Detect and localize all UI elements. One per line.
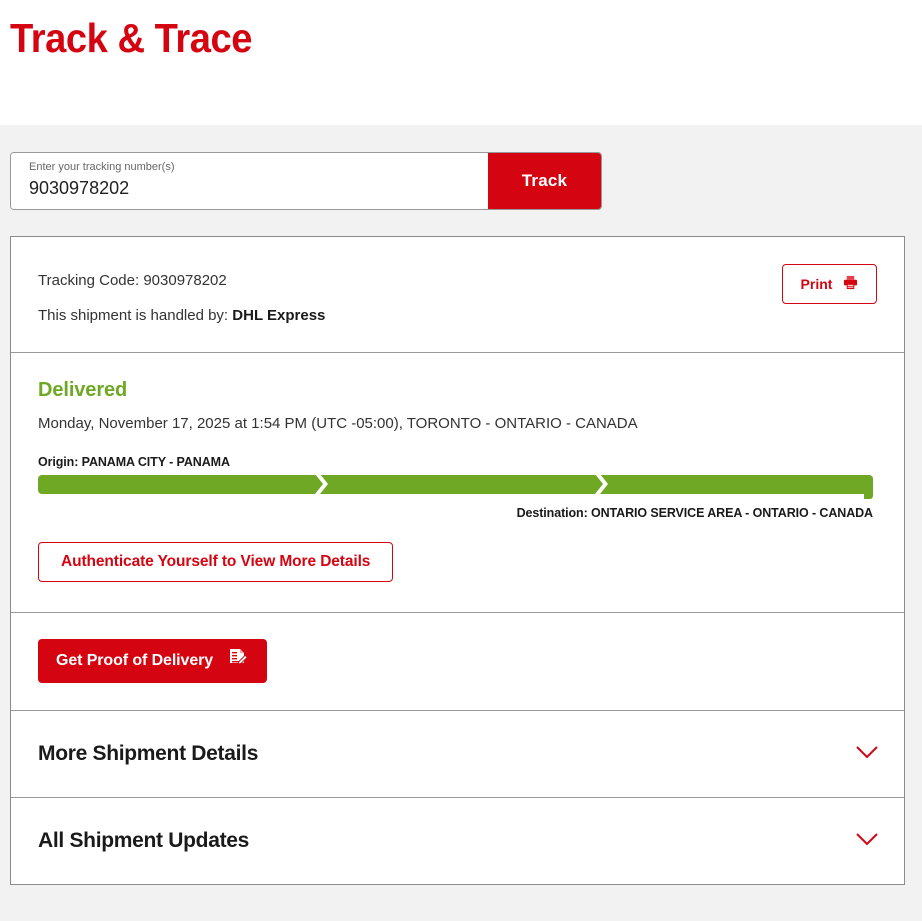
get-proof-of-delivery-button[interactable]: Get Proof of Delivery xyxy=(38,639,267,683)
proof-of-delivery-section: Get Proof of Delivery xyxy=(11,613,904,710)
chevron-down-icon[interactable] xyxy=(855,745,879,764)
tracking-result-card: Tracking Code: 9030978202 This shipment … xyxy=(10,236,905,885)
progress-chevron-2 xyxy=(595,475,608,494)
progress-chevron-1 xyxy=(315,475,328,494)
track-button[interactable]: Track xyxy=(488,153,601,209)
handled-by-carrier: DHL Express xyxy=(232,307,325,324)
document-signature-icon xyxy=(228,648,248,674)
status-detail: Monday, November 17, 2025 at 1:54 PM (UT… xyxy=(38,413,877,434)
accordion-title: All Shipment Updates xyxy=(38,829,249,853)
progress-end-cap xyxy=(864,475,873,499)
pod-button-label: Get Proof of Delivery xyxy=(56,652,213,670)
shipment-progress-bar xyxy=(38,475,873,499)
status-badge: Delivered xyxy=(38,377,877,403)
tracking-search-box[interactable]: Enter your tracking number(s) 9030978202… xyxy=(10,152,602,210)
shipment-summary-text: Tracking Code: 9030978202 This shipment … xyxy=(38,264,325,327)
page-header: Track & Trace xyxy=(0,0,922,125)
progress-track xyxy=(38,475,873,494)
search-row: Enter your tracking number(s) 9030978202… xyxy=(10,125,912,210)
tracking-number-input[interactable]: Enter your tracking number(s) 9030978202 xyxy=(11,153,488,209)
accordion-all-shipment-updates[interactable]: All Shipment Updates xyxy=(11,798,904,884)
tracking-number-label: Enter your tracking number(s) xyxy=(29,160,488,174)
authenticate-button[interactable]: Authenticate Yourself to View More Detai… xyxy=(38,542,393,582)
shipment-status-section: Delivered Monday, November 17, 2025 at 1… xyxy=(11,353,904,612)
content-area: Enter your tracking number(s) 9030978202… xyxy=(0,125,922,921)
handled-by-prefix: This shipment is handled by: xyxy=(38,307,228,324)
print-button-label: Print xyxy=(801,276,833,292)
tracking-number-value: 9030978202 xyxy=(29,175,488,201)
handled-by-line: This shipment is handled by: DHL Express xyxy=(38,305,325,327)
chevron-down-icon[interactable] xyxy=(855,832,879,851)
printer-icon xyxy=(843,275,858,293)
accordion-title: More Shipment Details xyxy=(38,742,258,766)
shipment-summary-section: Tracking Code: 9030978202 This shipment … xyxy=(11,237,904,352)
origin-label: Origin: PANAMA CITY - PANAMA xyxy=(38,455,877,469)
destination-label: Destination: ONTARIO SERVICE AREA - ONTA… xyxy=(38,506,873,520)
page-title: Track & Trace xyxy=(10,14,858,62)
tracking-code-line: Tracking Code: 9030978202 xyxy=(38,270,325,292)
print-button[interactable]: Print xyxy=(782,264,877,304)
accordion-more-shipment-details[interactable]: More Shipment Details xyxy=(11,711,904,797)
